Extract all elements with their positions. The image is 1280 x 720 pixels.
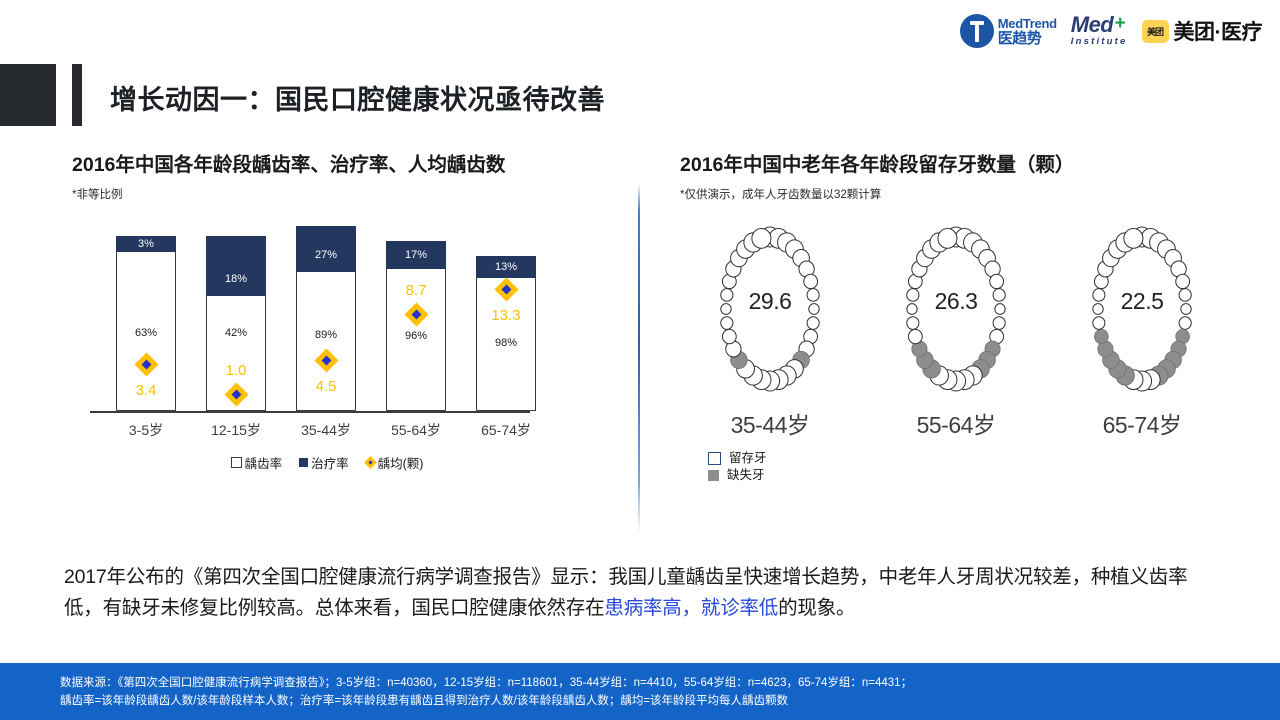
x-tick-label: 12-15岁	[191, 420, 281, 440]
page-title: 增长动因一：国民口腔健康状况亟待改善	[110, 78, 605, 117]
chart-legend: 龋齿率 治疗率 龋均(颗)	[102, 453, 552, 472]
age-group-label: 35-44岁	[680, 406, 860, 440]
teeth-diagram: 22.5	[1052, 214, 1232, 404]
hollow-square-icon	[231, 457, 242, 468]
legend-label: 治疗率	[311, 453, 349, 472]
med-institute-word: Med	[1071, 12, 1114, 37]
left-panel: 2016年中国各年龄段龋齿率、治疗率、人均龋齿数 *非等比例 3% 63% 3.…	[72, 148, 632, 528]
right-panel: 2016年中国中老年各年龄段留存牙数量（颗） *仅供演示，成年人牙齿数量以32颗…	[680, 148, 1250, 528]
retained-tooth	[993, 317, 1005, 330]
right-panel-subtitle: *仅供演示，成年人牙齿数量以32颗计算	[680, 186, 1250, 202]
age-group-label: 65-74岁	[1052, 406, 1232, 440]
retained-tooth	[1093, 317, 1105, 330]
medtrend-mark-icon	[960, 14, 994, 48]
legend-item-missing-teeth: 缺失牙	[708, 467, 767, 484]
treatment-rate-label: 13%	[495, 262, 517, 273]
medtrend-logo: MedTrend 医趋势	[960, 14, 1057, 48]
gray-square-icon	[708, 470, 719, 481]
retained-tooth	[1176, 274, 1190, 288]
header-logo-group: MedTrend 医趋势 Med+ Institute 美团 美团·医疗	[960, 8, 1262, 54]
x-tick-label: 3-5岁	[101, 420, 191, 440]
retained-teeth-value: 29.6	[680, 288, 860, 315]
retained-tooth	[1124, 228, 1143, 248]
legend-label: 留存牙	[729, 450, 767, 467]
teeth-diagram-row: 29.6 26.3 22.5	[680, 214, 1250, 404]
caries-mean-label: 1.0	[206, 363, 266, 378]
title-decor-block	[0, 64, 56, 126]
retained-teeth-value: 22.5	[1052, 288, 1232, 315]
caries-mean-label: 8.7	[386, 283, 446, 298]
treatment-rate-segment: 27%	[296, 226, 356, 272]
caries-rate-label: 89%	[297, 330, 355, 341]
panel-divider	[638, 183, 640, 533]
teeth-age-labels: 35-44岁 55-64岁 65-74岁	[680, 406, 1250, 436]
teeth-diagram: 26.3	[866, 214, 1046, 404]
retained-tooth	[807, 317, 819, 330]
footer-line-2: 龋齿率=该年龄段龋齿人数/该年龄段样本人数；治疗率=该年龄段患有龋齿且得到治疗人…	[60, 692, 1240, 710]
legend-item-caries-rate: 龋齿率	[231, 453, 283, 472]
missing-tooth	[1094, 329, 1108, 343]
treatment-rate-label: 17%	[405, 250, 427, 261]
left-panel-title: 2016年中国各年龄段龋齿率、治疗率、人均龋齿数	[72, 148, 632, 177]
legend-label: 龋均(颗)	[378, 453, 424, 472]
x-tick-label: 35-44岁	[281, 420, 371, 440]
retained-tooth	[804, 274, 818, 288]
title-bar: 增长动因一：国民口腔健康状况亟待改善	[0, 64, 1280, 126]
caries-bar-chart: 3% 63% 3.4 18% 42% 1.0	[102, 226, 552, 411]
retained-tooth	[722, 329, 736, 343]
footer-line-1: 数据来源：《第四次全国口腔健康流行病学调查报告》；3-5岁组：n=40360，1…	[60, 674, 1240, 692]
age-group-label: 55-64岁	[866, 406, 1046, 440]
treatment-rate-segment: 3%	[116, 236, 176, 252]
plus-icon: +	[1114, 13, 1125, 34]
meituan-badge-icon: 美团	[1142, 20, 1169, 43]
retained-teeth-value: 26.3	[866, 288, 1046, 315]
treatment-rate-segment: 13%	[476, 256, 536, 278]
retained-tooth	[1179, 317, 1191, 330]
left-panel-subtitle: *非等比例	[72, 186, 632, 202]
teeth-legend: 留存牙 缺失牙	[708, 450, 767, 484]
caries-mean-label: 4.5	[296, 379, 356, 394]
body-text-part2: 的现象。	[778, 597, 855, 619]
chart-x-tick-labels: 3-5岁 12-15岁 35-44岁 55-64岁 65-74岁	[102, 420, 552, 444]
med-institute-logo: Med+ Institute	[1071, 14, 1128, 49]
title-decor-rule	[72, 64, 82, 126]
treatment-rate-label: 18%	[207, 274, 265, 285]
teeth-diagram: 29.6	[680, 214, 860, 404]
legend-label: 缺失牙	[727, 467, 765, 484]
retained-tooth	[938, 228, 957, 248]
treatment-rate-label: 3%	[138, 239, 154, 250]
chart-x-axis	[90, 411, 530, 413]
treatment-rate-label: 27%	[297, 250, 355, 261]
diamond-icon	[364, 456, 377, 469]
caries-rate-label: 63%	[117, 328, 175, 339]
caries-rate-label: 96%	[387, 331, 445, 342]
med-institute-sub: Institute	[1071, 37, 1128, 47]
caries-rate-label: 98%	[477, 338, 535, 349]
footer-source-note: 数据来源：《第四次全国口腔健康流行病学调查报告》；3-5岁组：n=40360，1…	[60, 674, 1240, 710]
footer-bar: 数据来源：《第四次全国口腔健康流行病学调查报告》；3-5岁组：n=40360，1…	[0, 663, 1280, 720]
right-panel-title: 2016年中国中老年各年龄段留存牙数量（颗）	[680, 148, 1250, 177]
retained-tooth	[721, 317, 733, 330]
caries-mean-label: 3.4	[116, 383, 176, 398]
legend-item-caries-mean: 龋均(颗)	[366, 453, 424, 472]
hollow-square-icon	[708, 452, 721, 465]
medtrend-logo-cn: 医趋势	[998, 31, 1057, 46]
meituan-medical-logo: 美团 美团·医疗	[1142, 16, 1263, 46]
caries-mean-label: 13.3	[476, 308, 536, 323]
x-tick-label: 65-74岁	[461, 420, 551, 440]
legend-item-treatment-rate: 治疗率	[299, 453, 349, 472]
treatment-rate-segment: 17%	[386, 241, 446, 269]
caries-rate-label: 42%	[207, 328, 265, 339]
legend-label: 龋齿率	[245, 453, 283, 472]
x-tick-label: 55-64岁	[371, 420, 461, 440]
solid-square-icon	[299, 458, 308, 467]
retained-tooth	[752, 228, 771, 248]
body-paragraph: 2017年公布的《第四次全国口腔健康流行病学调查报告》显示：我国儿童龋齿呈快速增…	[64, 562, 1224, 624]
retained-tooth	[908, 329, 922, 343]
treatment-rate-segment: 18%	[206, 236, 266, 296]
retained-tooth	[990, 274, 1004, 288]
retained-tooth	[907, 317, 919, 330]
meituan-logo-text: 美团·医疗	[1174, 16, 1263, 46]
body-text-highlight: 患病率高，就诊率低	[604, 597, 778, 619]
medtrend-logo-en: MedTrend	[998, 17, 1057, 30]
legend-item-retained-teeth: 留存牙	[708, 450, 767, 467]
